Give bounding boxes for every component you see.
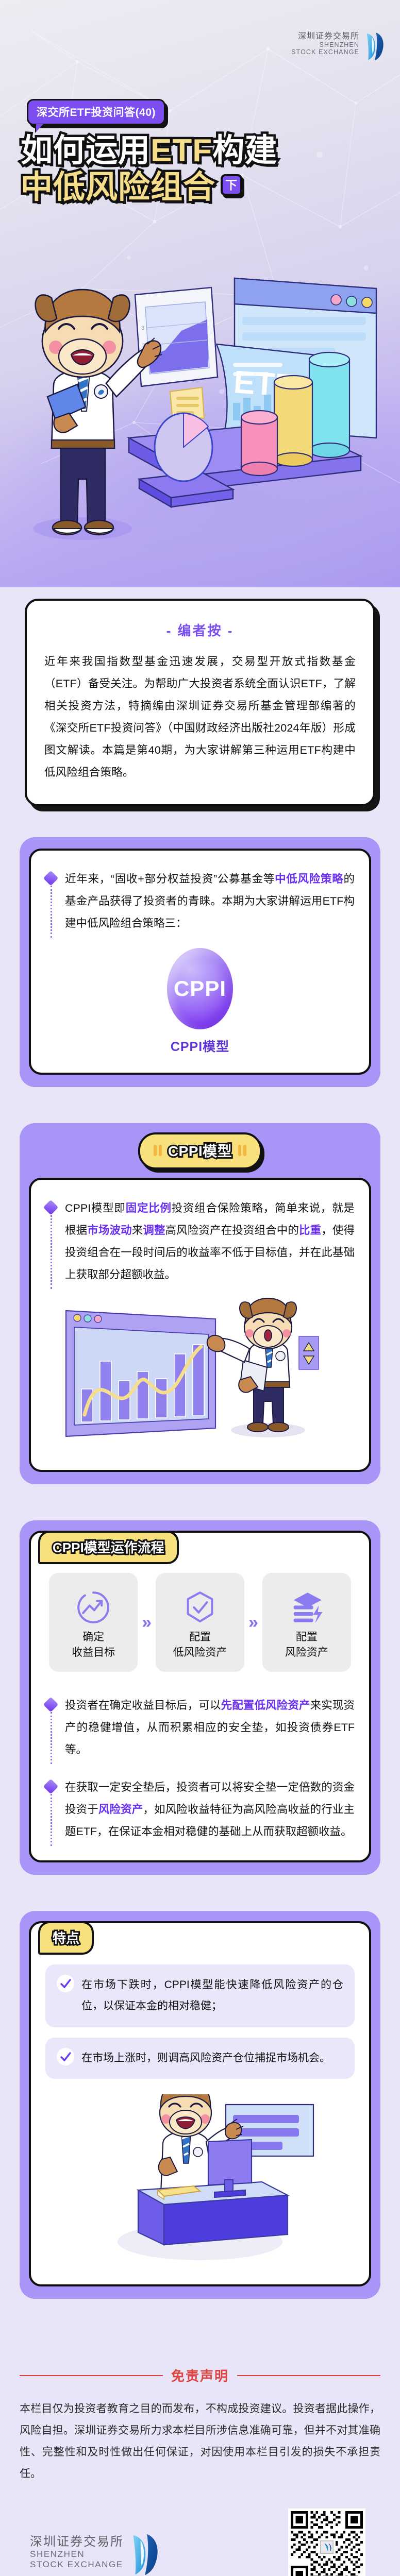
sse-name-cn-footer: 深圳证券交易所 bbox=[30, 2531, 124, 2549]
hero-banner: 深圳证券交易所 SHENZHEN STOCK EXCHANGE bbox=[0, 0, 400, 587]
sse-logo-header: 深圳证券交易所 SHENZHEN STOCK EXCHANGE bbox=[291, 32, 386, 61]
cppi-ball-label: CPPI bbox=[174, 976, 226, 1001]
flow-step-3-line1: 配置 bbox=[266, 1630, 347, 1645]
features-heading-label: 特点 bbox=[53, 1930, 79, 1946]
flow-steps: 确定 收益目标 » 配置 低风险资产 » bbox=[45, 1573, 355, 1672]
tablet-chart-illustration: 3 2 1 bbox=[135, 287, 218, 386]
cppi-paragraph-run-4: 来 bbox=[132, 1224, 143, 1236]
cppi-paragraph-run-1: 固定比例 bbox=[126, 1202, 172, 1214]
disclaimer-body: 本栏目仅为投资者教育之目的而发布，不构成投资建议。投资者据此操作，风险自担。深圳… bbox=[20, 2398, 380, 2485]
flow-chevron-1-icon: » bbox=[141, 1614, 153, 1631]
series-badge-label: 深交所ETF投资问答(40) bbox=[27, 99, 165, 125]
sse-name-en-2: STOCK EXCHANGE bbox=[291, 48, 359, 56]
flow-card: 确定 收益目标 » 配置 低风险资产 » bbox=[29, 1531, 371, 1862]
flow-step-3: 配置 风险资产 bbox=[262, 1573, 351, 1672]
intro-bullet-row: 近年来，“固收+部分权益投资”公募基金等中低风险策略的基金产品获得了投资者的青睐… bbox=[45, 868, 355, 935]
cppi-ball-block: CPPI CPPI模型 bbox=[45, 948, 355, 1055]
cppi-paragraph: CPPI模型即固定比例投资组合保险策略，简单来说，就是根据市场波动来调整高风险资… bbox=[65, 1197, 355, 1286]
hero-title-line2-text: 中低风险组合 bbox=[21, 170, 215, 205]
bullet-marker-col bbox=[45, 868, 58, 935]
cppi-heading-chip-wrap: CPPI模型 bbox=[29, 1132, 371, 1170]
cppi-paragraph-run-6: 高风险资产在投资组合中的 bbox=[165, 1224, 299, 1236]
flow-paragraph-1-run-1: 先配置低风险资产 bbox=[221, 1699, 310, 1711]
flow-paragraph-2-run-1: 风险资产 bbox=[98, 1803, 143, 1816]
sse-name-en-2-footer: STOCK EXCHANGE bbox=[30, 2560, 124, 2570]
intro-card: 近年来，“固收+部分权益投资”公募基金等中低风险策略的基金产品获得了投资者的青睐… bbox=[29, 849, 371, 1075]
dotted-connector bbox=[51, 1712, 52, 1764]
divider-right bbox=[237, 2375, 380, 2377]
flow-paragraph-1-run-0: 投资者在确定收益目标后，可以 bbox=[65, 1699, 221, 1711]
flow-step-1: 确定 收益目标 bbox=[49, 1573, 138, 1672]
sse-name-en-1: SHENZHEN bbox=[291, 41, 359, 48]
cppi-heading-label: CPPI模型 bbox=[168, 1140, 232, 1161]
sse-logo-icon bbox=[364, 32, 386, 61]
hero-title-line-2: 中低风险组合下 bbox=[21, 170, 381, 206]
mascot-desk-illustration bbox=[45, 2094, 355, 2264]
cppi-paragraph-run-7: 比重 bbox=[299, 1224, 321, 1236]
intro-paragraph-run-1: 中低风险策略 bbox=[275, 873, 343, 885]
flow-card-frame: CPPI模型运作流程 确定 收益目标 bbox=[20, 1520, 380, 1875]
flow-step-1-line1: 确定 bbox=[53, 1630, 134, 1645]
flow-step-2: 配置 低风险资产 bbox=[156, 1573, 244, 1672]
cppi-card-frame: CPPI模型 CPPI模型即固定比例投资组合保险策略，简单来说，就是根据市场波动… bbox=[20, 1123, 380, 1484]
flow-chevron-2-icon: » bbox=[247, 1614, 259, 1631]
check-icon bbox=[57, 2048, 74, 2065]
bar-chart-window-illustration bbox=[66, 1311, 215, 1436]
hero-title: 如何运用ETF构建 中低风险组合下 bbox=[21, 133, 381, 206]
bullet-marker-col bbox=[45, 1694, 58, 1761]
features-heading-chip: 特点 bbox=[38, 1921, 94, 1955]
chip-bars-left-icon bbox=[154, 1145, 162, 1156]
hero-title-line-1: 如何运用ETF构建 bbox=[21, 133, 381, 170]
disclaimer-block: 免责声明 本栏目仅为投资者教育之目的而发布，不构成投资建议。投资者据此操作，风险… bbox=[20, 2361, 380, 2485]
dotted-connector bbox=[51, 886, 52, 938]
flow-step-2-line2: 低风险资产 bbox=[160, 1645, 240, 1660]
hero-illustration: 3 2 1 ETF bbox=[0, 222, 400, 582]
target-return-icon bbox=[53, 1585, 134, 1630]
features-card-frame: 特点 在市场下跌时，CPPI模型能快速降低风险资产的仓位，以保证本金的相对稳健；… bbox=[20, 1911, 380, 2299]
diamond-bullet-icon bbox=[43, 871, 59, 886]
disclaimer-heading: 免责声明 bbox=[20, 2366, 380, 2385]
intro-section: 近年来，“固收+部分权益投资”公募基金等中低风险策略的基金产品获得了投资者的青睐… bbox=[0, 806, 400, 1087]
flow-bullet-row-1: 投资者在确定收益目标后，可以先配置低风险资产来实现资产的稳健增值，从而积累相应的… bbox=[45, 1694, 355, 1761]
series-badge: 深交所ETF投资问答(40) bbox=[27, 99, 165, 125]
sse-name-en-1-footer: SHENZHEN bbox=[30, 2549, 124, 2560]
flow-bullet-row-2: 在获取一定安全垫后，投资者可以将安全垫一定倍数的资金投资于风险资产，如风险收益特… bbox=[45, 1776, 355, 1843]
sse-logo-icon-footer bbox=[129, 2531, 161, 2576]
flow-heading-label: CPPI模型运作流程 bbox=[53, 1540, 164, 1555]
editor-note-card: - 编者按 - 近年来我国指数型基金迅速发展，交易型开放式指数基金（ETF）备受… bbox=[25, 599, 375, 806]
feature-item-2-text: 在市场上涨时，则调高风险资产仓位捕捉市场机会。 bbox=[81, 2048, 343, 2069]
editor-note-body: 近年来我国指数型基金迅速发展，交易型开放式指数基金（ETF）备受关注。为帮助广大… bbox=[44, 651, 356, 784]
flow-step-1-line2: 收益目标 bbox=[53, 1645, 134, 1660]
bullet-marker-col bbox=[45, 1197, 58, 1286]
diamond-bullet-icon bbox=[43, 1697, 59, 1712]
stacked-layers-icon bbox=[266, 1585, 347, 1630]
hero-title-part-b: ETF bbox=[151, 133, 212, 168]
flow-step-3-line2: 风险资产 bbox=[266, 1645, 347, 1660]
infographic-page: 深圳证券交易所 SHENZHEN STOCK EXCHANGE bbox=[0, 0, 400, 2576]
desk-illustration bbox=[138, 2182, 288, 2245]
mascot-bull-presenter bbox=[207, 1298, 305, 1437]
updown-arrows-panel bbox=[299, 1336, 319, 1369]
feature-item-1: 在市场下跌时，CPPI模型能快速降低风险资产的仓位，以保证本金的相对稳健； bbox=[45, 1964, 355, 2027]
series-badge-tail bbox=[36, 124, 43, 132]
cppi-paragraph-run-0: CPPI模型即 bbox=[65, 1202, 126, 1214]
hexagon-check-icon bbox=[160, 1585, 240, 1630]
cppi-model-section: CPPI模型 CPPI模型即固定比例投资组合保险策略，简单来说，就是根据市场波动… bbox=[0, 1087, 400, 1484]
features-section: 特点 在市场下跌时，CPPI模型能快速降低风险资产的仓位，以保证本金的相对稳健；… bbox=[0, 1875, 400, 2299]
cppi-heading-chip: CPPI模型 bbox=[138, 1132, 262, 1170]
flow-section: CPPI模型运作流程 确定 收益目标 bbox=[0, 1484, 400, 1875]
intro-paragraph-run-0: 近年来，“固收+部分权益投资”公募基金等 bbox=[65, 873, 275, 885]
feature-item-1-text: 在市场下跌时，CPPI模型能快速降低风险资产的仓位，以保证本金的相对稳健； bbox=[81, 1975, 343, 2017]
divider-left bbox=[20, 2375, 163, 2377]
bullet-marker-col bbox=[45, 1776, 58, 1843]
editor-note-section: - 编者按 - 近年来我国指数型基金迅速发展，交易型开放式指数基金（ETF）备受… bbox=[0, 587, 400, 806]
diamond-bullet-icon bbox=[43, 1200, 59, 1215]
flow-paragraph-1: 投资者在确定收益目标后，可以先配置低风险资产来实现资产的稳健增值，从而积累相应的… bbox=[65, 1694, 355, 1761]
sse-logo-footer: 深圳证券交易所 SHENZHEN STOCK EXCHANGE bbox=[20, 2509, 161, 2576]
cppi-paragraph-run-5: 调整 bbox=[143, 1224, 165, 1236]
flow-heading-chip: CPPI模型运作流程 bbox=[38, 1531, 179, 1564]
cppi-paragraph-run-3: 市场波动 bbox=[87, 1224, 131, 1236]
qr-code-image[interactable] bbox=[288, 2509, 365, 2576]
cppi-card: CPPI模型即固定比例投资组合保险策略，简单来说，就是根据市场波动来调整高风险资… bbox=[29, 1178, 371, 1472]
editor-note-title: - 编者按 - bbox=[44, 620, 356, 639]
cppi-ball-caption: CPPI模型 bbox=[45, 1037, 355, 1055]
flow-paragraph-2: 在获取一定安全垫后，投资者可以将安全垫一定倍数的资金投资于风险资产，如风险收益特… bbox=[65, 1776, 355, 1843]
cppi-illustration bbox=[45, 1295, 355, 1450]
hero-title-part-c: 构建 bbox=[212, 133, 277, 168]
chip-bars-right-icon bbox=[238, 1145, 246, 1156]
dotted-connector bbox=[51, 1794, 52, 1846]
features-card: 在市场下跌时，CPPI模型能快速降低风险资产的仓位，以保证本金的相对稳健； 在市… bbox=[29, 1921, 371, 2287]
check-icon bbox=[57, 1975, 74, 1992]
flow-step-2-line1: 配置 bbox=[160, 1630, 240, 1645]
feature-item-2: 在市场上涨时，则调高风险资产仓位捕捉市场机会。 bbox=[45, 2038, 355, 2079]
wechat-qr-block: 深交所官方微信公众号 bbox=[286, 2509, 380, 2576]
intro-card-frame: 近年来，“固收+部分权益投资”公募基金等中低风险策略的基金产品获得了投资者的青睐… bbox=[20, 837, 380, 1087]
svg-text:3: 3 bbox=[141, 325, 144, 331]
intro-paragraph: 近年来，“固收+部分权益投资”公募基金等中低风险策略的基金产品获得了投资者的青睐… bbox=[65, 868, 355, 935]
footer-block: 深圳证券交易所 SHENZHEN STOCK EXCHANGE bbox=[20, 2509, 380, 2576]
disclaimer-section: 免责声明 本栏目仅为投资者教育之目的而发布，不构成投资建议。投资者据此操作，风险… bbox=[0, 2299, 400, 2576]
diamond-bullet-icon bbox=[43, 1778, 59, 1794]
cppi-bullet-row: CPPI模型即固定比例投资组合保险策略，简单来说，就是根据市场波动来调整高风险资… bbox=[45, 1197, 355, 1286]
cppi-ball-graphic: CPPI bbox=[167, 948, 233, 1029]
sse-name-cn: 深圳证券交易所 bbox=[291, 32, 359, 41]
dotted-connector bbox=[51, 1215, 52, 1289]
disclaimer-title: 免责声明 bbox=[171, 2366, 229, 2385]
part-badge: 下 bbox=[221, 174, 242, 196]
hero-title-part-a: 如何运用 bbox=[21, 133, 151, 168]
